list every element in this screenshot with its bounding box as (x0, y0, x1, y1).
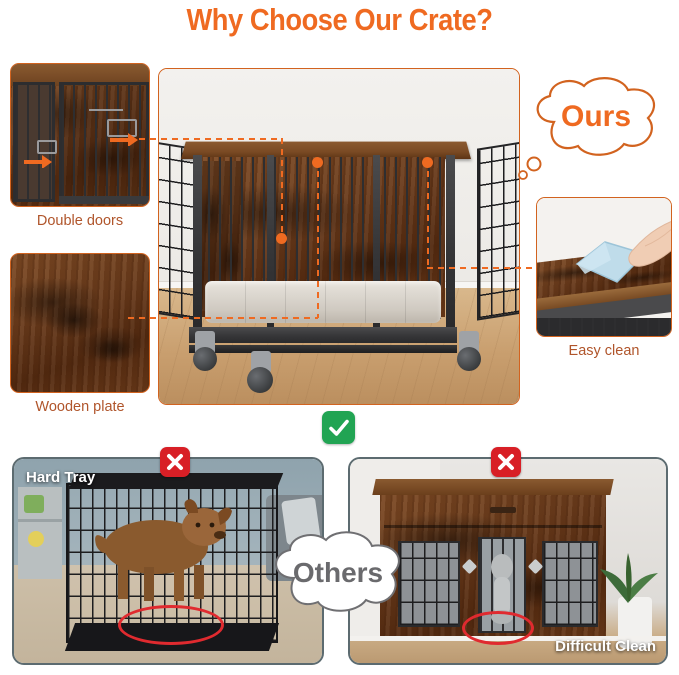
connector-double-doors-drop (281, 138, 283, 238)
hard-tray-label: Hard Tray (26, 469, 95, 486)
easy-clean-photo (537, 198, 671, 336)
arrow-icon (23, 152, 53, 168)
others-bubble-label: Others (293, 557, 383, 589)
connector-easy-clean-riser (427, 160, 429, 268)
dog-illustration (92, 495, 242, 615)
difficult-clean-label: Difficult Clean (555, 638, 656, 655)
cross-icon (496, 452, 516, 472)
ours-bubble: Ours (524, 74, 668, 164)
feature-panel-easy-clean (536, 197, 672, 337)
highlight-ellipse (118, 605, 224, 645)
cross-badge (160, 447, 190, 477)
cross-badge (491, 447, 521, 477)
wooden-plate-photo (11, 254, 149, 392)
cross-icon (165, 452, 185, 472)
ours-bubble-label: Ours (561, 100, 631, 134)
connector-dot (422, 157, 433, 168)
double-doors-photo (11, 64, 149, 206)
plant-icon (592, 533, 664, 605)
check-icon (328, 417, 350, 439)
feature-panel-wooden-plate (10, 253, 150, 393)
highlight-ellipse (462, 611, 534, 645)
others-bubble: Others (262, 528, 414, 620)
caption-wooden-plate: Wooden plate (10, 399, 150, 415)
main-product-panel (158, 68, 520, 405)
connector-wooden-plate-riser (317, 160, 319, 318)
connector-dot (312, 157, 323, 168)
check-badge (322, 411, 355, 444)
thought-bubble-tail-icon (518, 156, 552, 182)
caption-easy-clean: Easy clean (536, 343, 672, 359)
caption-double-doors: Double doors (10, 213, 150, 229)
page-title: Why Choose Our Crate? (41, 2, 639, 38)
connector-double-doors (128, 138, 282, 140)
connector-wooden-plate (128, 317, 318, 319)
main-product-photo (159, 69, 519, 404)
feature-panel-double-doors (10, 63, 150, 207)
infographic-root: Why Choose Our Crate? Double doors (0, 0, 679, 675)
connector-dot (276, 233, 287, 244)
hand-icon (611, 216, 672, 276)
